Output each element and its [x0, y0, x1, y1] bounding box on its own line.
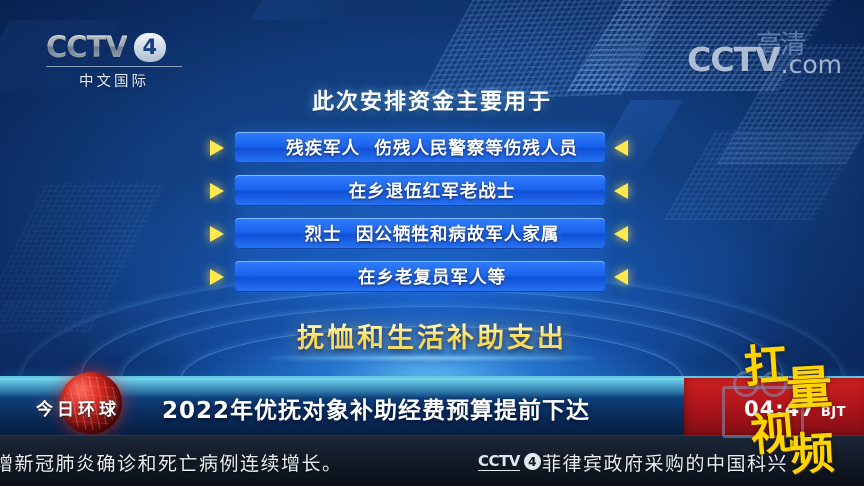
bullet-label: 在乡退伍红军老战士 [349, 178, 516, 203]
arrow-right-icon [210, 183, 224, 199]
ticker-logo-number: 4 [524, 453, 541, 470]
ticker-story-right: 菲律宾政府采购的中国科兴 [542, 449, 788, 476]
bullet-row: 在乡老复员军人等 [0, 255, 864, 298]
arrow-left-icon [614, 226, 628, 242]
clock: 04:47 BJT [744, 397, 846, 421]
bullet-label: 残疾军人 伤残人民警察等伤残人员 [286, 135, 578, 160]
arrow-left-icon [614, 269, 628, 285]
channel-logo-text: CCTV [46, 30, 127, 64]
bullet-row: 残疾军人 伤残人民警察等伤残人员 [0, 126, 864, 169]
bullet-list: 残疾军人 伤残人民警察等伤残人员 在乡退伍红军老战士 烈士 因公牺牲和病故军人家… [0, 126, 864, 298]
arrow-left-icon [614, 140, 628, 156]
arrow-right-icon [210, 226, 224, 242]
broadcast-screen: CCTV 4 中文国际 高清 CCTV .com 此次安排资金主要用于 残疾军人… [0, 0, 864, 486]
ticker-channel-logo: CCTV 4 [478, 453, 541, 471]
ticker-content: 增新冠肺炎确诊和死亡病例连续增长。 CCTV 4 菲律宾政府采购的中国科兴 [0, 445, 864, 477]
arrow-right-icon [210, 269, 224, 285]
bullet-label: 在乡老复员军人等 [358, 264, 506, 289]
slate-lead-in: 此次安排资金主要用于 [0, 84, 864, 116]
channel-logo: CCTV 4 中文国际 [46, 30, 196, 91]
arrow-left-icon [614, 183, 628, 199]
arrow-right-icon [210, 140, 224, 156]
news-headline: 2022年优抚对象补助经费预算提前下达 [162, 391, 590, 425]
ticker-story-left: 增新冠肺炎确诊和死亡病例连续增长。 [0, 449, 343, 476]
news-ticker: 增新冠肺炎确诊和死亡病例连续增长。 CCTV 4 菲律宾政府采购的中国科兴 [0, 435, 864, 486]
channel-number-badge: 4 [134, 33, 166, 62]
clock-panel: 04:47 BJT [684, 378, 864, 437]
program-name: 今日环球 [36, 395, 120, 420]
lower-third-banner: 今日环球 2022年优抚对象补助经费预算提前下达 04:47 BJT [0, 376, 864, 437]
bullet-row: 烈士 因公牺牲和病故军人家属 [0, 212, 864, 255]
channel-logo-divider [46, 66, 182, 67]
bullet-row: 在乡退伍红军老战士 [0, 169, 864, 212]
ticker-logo-text: CCTV [478, 453, 520, 471]
bullet-label: 烈士 因公牺牲和病故军人家属 [305, 221, 560, 246]
site-watermark: 高清 CCTV .com [687, 40, 842, 79]
slate-summary: 抚恤和生活补助支出 [0, 316, 864, 355]
clock-time: 04:47 [744, 397, 816, 421]
clock-timezone: BJT [821, 405, 846, 420]
channel-logo-mark: CCTV 4 [46, 30, 196, 64]
hd-badge-icon: 高清 [756, 24, 804, 61]
